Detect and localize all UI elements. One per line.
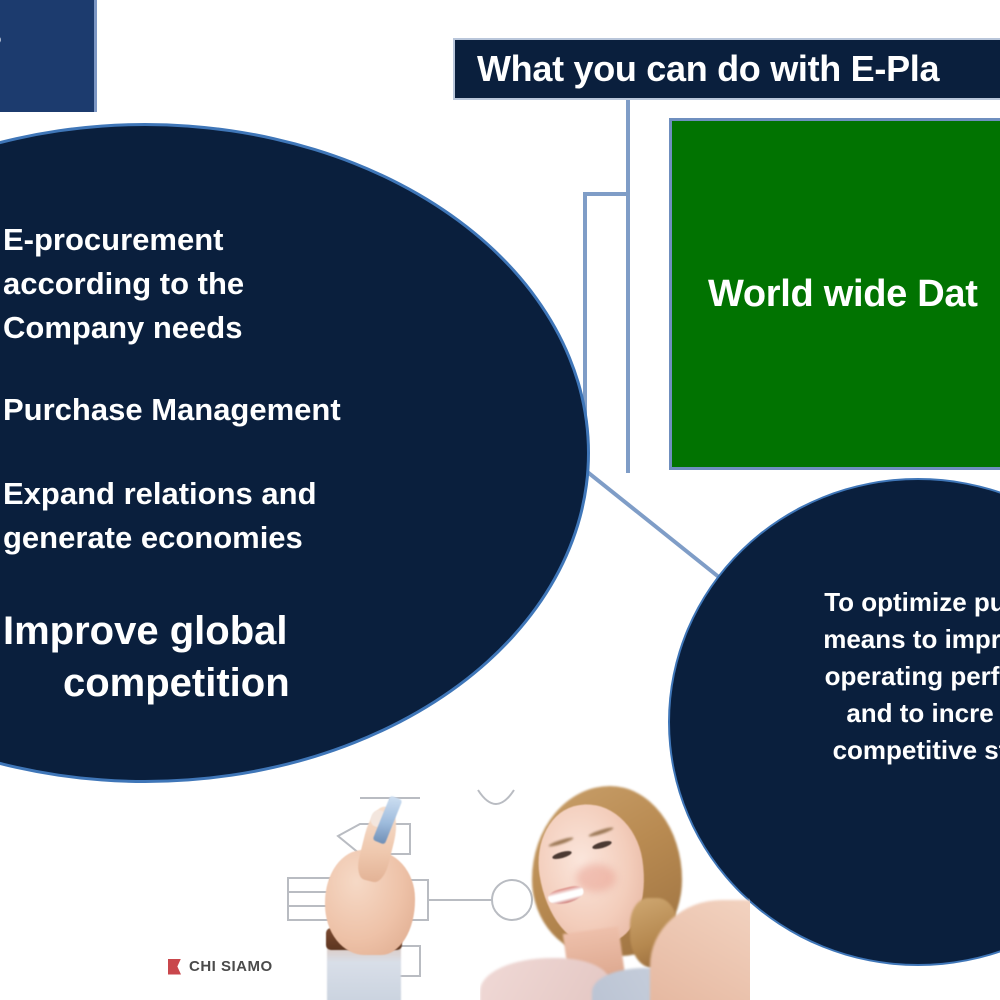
circle-bullet-3: Company needs bbox=[3, 310, 242, 346]
green-box-label: World wide Dat bbox=[672, 273, 978, 316]
circle-bullet-5: Expand relations and bbox=[3, 476, 317, 512]
footer-tag[interactable]: CHI SIAMO bbox=[168, 958, 273, 975]
footer-label: CHI SIAMO bbox=[189, 958, 273, 975]
presentation-slide: E-procurement according to the Company n… bbox=[0, 0, 1000, 1000]
green-database-box: World wide Dat bbox=[669, 118, 1000, 470]
circle-benefits: E-procurement according to the Company n… bbox=[0, 123, 590, 783]
slide-title: What you can do with E-Pla bbox=[455, 48, 939, 90]
circle-right-line-4: and to incre bbox=[670, 695, 1000, 732]
circle-headline-line-1: Improve global bbox=[3, 609, 288, 654]
company-logo[interactable]: orm® hoice bbox=[0, 0, 97, 112]
circle-right-line-3: operating perfo bbox=[670, 658, 1000, 695]
hand-photo bbox=[315, 800, 445, 1000]
circle-headline-line-2: competition bbox=[63, 661, 290, 706]
circle-right-line-2: means to impro bbox=[670, 621, 1000, 658]
slide-title-banner: What you can do with E-Pla bbox=[453, 38, 1000, 100]
circle-bullet-6: generate economies bbox=[3, 520, 303, 556]
circle-bullet-4: Purchase Management bbox=[3, 392, 341, 428]
circle-bullet-2: according to the bbox=[3, 266, 244, 302]
circle-right-line-1: To optimize pur bbox=[670, 584, 1000, 621]
circle-bullet-1: E-procurement bbox=[3, 222, 223, 258]
circle-right-line-5: competitive st bbox=[670, 732, 1000, 769]
red-flag-icon bbox=[168, 959, 181, 975]
